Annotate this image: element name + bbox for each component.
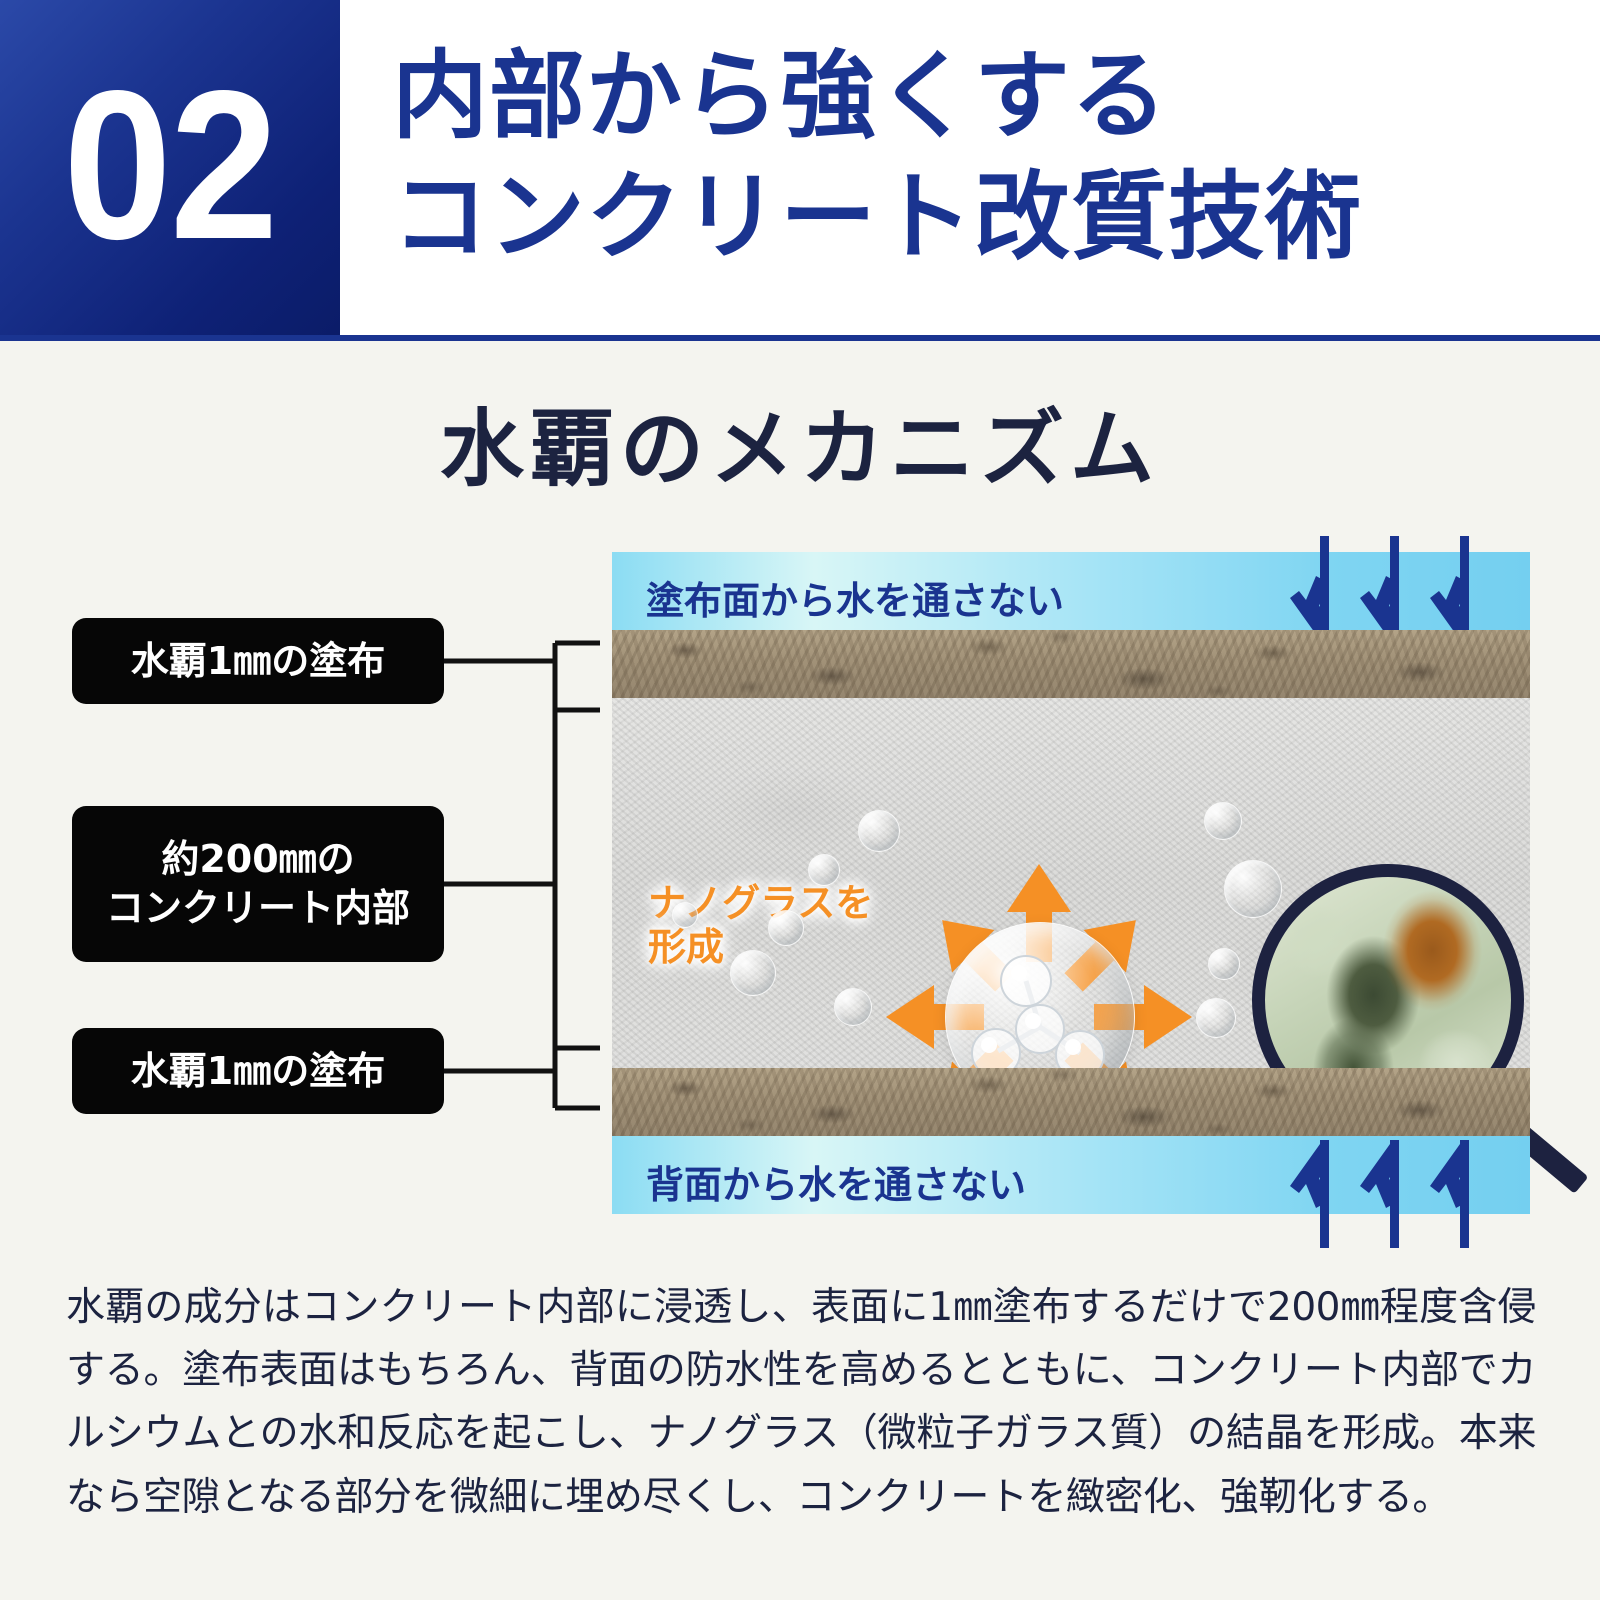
page-title-line-2: コンクリート改質技術 bbox=[392, 157, 1572, 278]
header-divider bbox=[0, 335, 1600, 341]
section-number: 02 bbox=[63, 59, 276, 271]
callout-label-top-coating: 水覇1㎜の塗布 bbox=[72, 618, 444, 704]
nano-bubble bbox=[1196, 998, 1236, 1038]
callout-label-text: コンクリート内部 bbox=[106, 884, 410, 933]
nano-bubble bbox=[672, 902, 698, 928]
top-band-label: 塗布面から水を通さない bbox=[646, 570, 1064, 625]
nano-bubble bbox=[730, 950, 776, 996]
callout-label-bottom-coating: 水覇1㎜の塗布 bbox=[72, 1028, 444, 1114]
callout-label-text: 水覇1㎜の塗布 bbox=[131, 637, 385, 686]
nano-bubble bbox=[808, 854, 840, 886]
water-repel-up-arrows-icon bbox=[1286, 1140, 1516, 1248]
callout-label-text: 水覇1㎜の塗布 bbox=[131, 1047, 385, 1096]
bottom-coating-layer bbox=[612, 1068, 1530, 1136]
top-water-band: 塗布面から水を通さない bbox=[612, 552, 1530, 630]
callout-bracket-group: 水覇1㎜の塗布 約200㎜の コンクリート内部 水覇1㎜の塗布 bbox=[60, 600, 620, 1160]
page-title: 内部から強くする コンクリート改質技術 bbox=[392, 36, 1572, 278]
concrete-interior-layer: ナノグラスを 形成 bbox=[612, 698, 1530, 1068]
top-coating-layer bbox=[612, 630, 1530, 698]
section-subtitle: 水覇のメカニズム bbox=[0, 382, 1600, 503]
body-paragraph: 水覇の成分はコンクリート内部に浸透し、表面に1㎜塗布するだけで200㎜程度含侵す… bbox=[66, 1276, 1536, 1529]
nano-bubble bbox=[768, 910, 804, 946]
bottom-water-band: 背面から水を通さない bbox=[612, 1136, 1530, 1214]
callout-label-text: 約200㎜の bbox=[106, 835, 410, 884]
nano-bubble bbox=[1204, 802, 1242, 840]
mechanism-diagram: 塗布面から水を通さない ナノグラスを 形成 bbox=[612, 552, 1530, 1214]
nano-bubble bbox=[858, 810, 900, 852]
nano-bubble bbox=[834, 988, 872, 1026]
nano-bubble bbox=[1208, 948, 1240, 980]
section-number-badge: 02 bbox=[0, 0, 340, 335]
page-header: 02 内部から強くする コンクリート改質技術 bbox=[0, 0, 1600, 338]
water-repel-down-arrows-icon bbox=[1286, 536, 1516, 644]
bottom-band-label: 背面から水を通さない bbox=[646, 1154, 1026, 1209]
callout-label-concrete-interior: 約200㎜の コンクリート内部 bbox=[72, 806, 444, 962]
page-title-line-1: 内部から強くする bbox=[392, 36, 1572, 157]
